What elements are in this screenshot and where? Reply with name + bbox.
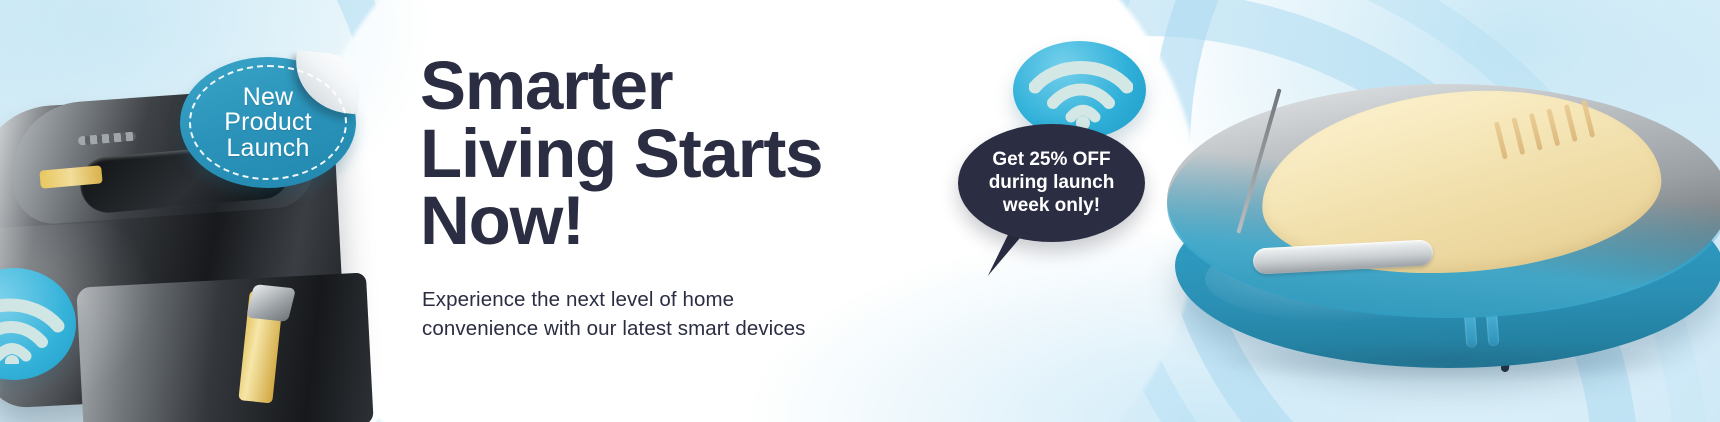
promo-speech-bubble[interactable]: Get 25% OFF during launch week only! (958, 124, 1145, 242)
wifi-icon (1029, 55, 1133, 131)
promo-text: Get 25% OFF during launch week only! (958, 149, 1145, 217)
robot-vacuum-shadow (1205, 338, 1685, 384)
wifi-icon (0, 292, 66, 364)
headline-line-2: Living Starts (420, 120, 940, 188)
sticker-line-1: New (180, 84, 356, 110)
promo-line-1: Get 25% OFF (958, 149, 1145, 172)
page-title: Smarter Living Starts Now! (420, 52, 940, 255)
copy-block: Smarter Living Starts Now! Experience th… (420, 52, 940, 343)
subtitle: Experience the next level of home conven… (422, 285, 940, 343)
sticker-line-2: Product (180, 110, 356, 136)
subtitle-line-1: Experience the next level of home (422, 285, 940, 314)
air-fryer-handle-cap (246, 284, 296, 322)
robot-vacuum-product-image (1145, 38, 1720, 398)
promo-banner: New Product Launch Smarter Living Starts… (0, 0, 1720, 422)
new-product-launch-sticker[interactable]: New Product Launch (180, 57, 356, 188)
headline-line-1: Smarter (420, 52, 940, 120)
sticker-text: New Product Launch (180, 84, 356, 161)
promo-line-3: week only! (958, 194, 1145, 217)
headline-line-3: Now! (420, 187, 940, 255)
promo-line-2: during launch (958, 172, 1145, 195)
subtitle-line-2: convenience with our latest smart device… (422, 314, 940, 343)
sticker-line-3: Launch (180, 135, 356, 161)
